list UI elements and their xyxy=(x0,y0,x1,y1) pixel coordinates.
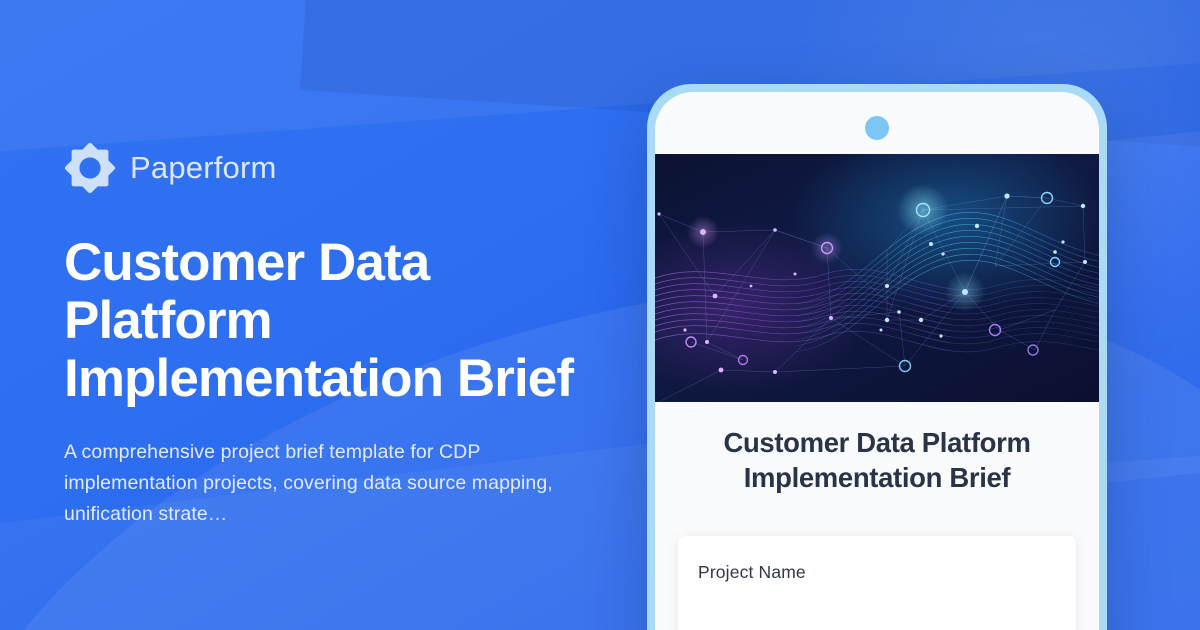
paperform-star-logo-icon xyxy=(64,142,116,194)
phone-screen: Customer Data Platform Implementation Br… xyxy=(655,92,1099,630)
form-cover-image xyxy=(655,154,1099,402)
front-camera-dot-icon xyxy=(865,116,889,140)
hero-content-column: Paperform Customer Data Platform Impleme… xyxy=(64,140,604,529)
brand-name-wordmark: Paperform xyxy=(130,150,277,186)
form-field-card[interactable]: Project Name xyxy=(678,536,1076,630)
form-title: Customer Data Platform Implementation Br… xyxy=(681,426,1073,496)
phone-mockup: Customer Data Platform Implementation Br… xyxy=(647,84,1107,630)
og-preview-canvas: Paperform Customer Data Platform Impleme… xyxy=(0,0,1200,630)
page-description: A comprehensive project brief template f… xyxy=(64,437,554,529)
brand-lockup[interactable]: Paperform xyxy=(64,140,604,196)
page-title: Customer Data Platform Implementation Br… xyxy=(64,234,594,407)
field-label-project-name: Project Name xyxy=(698,562,1056,583)
